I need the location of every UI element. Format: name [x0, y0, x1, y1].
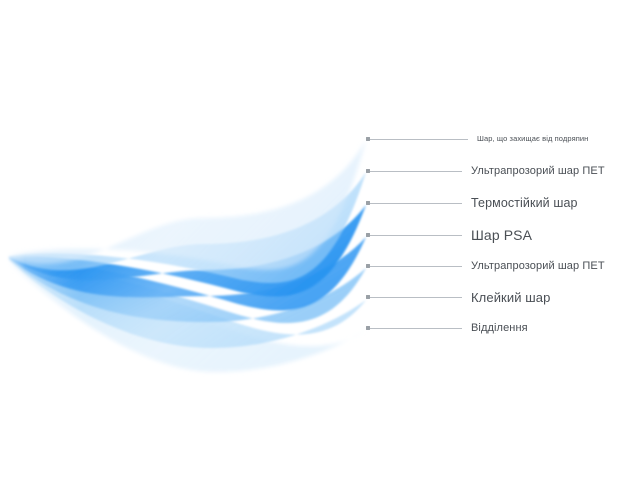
callout-label-layer-1: Шар, що захищає від подряпин: [477, 135, 588, 143]
callout-leader-line: [370, 235, 462, 236]
sheet-4-shar-psa: [8, 237, 366, 311]
callout-leader-line: [370, 171, 462, 172]
callout-leader-line: [370, 266, 462, 267]
callout-label-layer-4: Шар PSA: [471, 228, 532, 242]
sheet-7-viddilennya: [8, 262, 366, 372]
sheet-3-termostiykyy-shar: [8, 205, 366, 297]
sheet-5-ultraprozoryy-shar-pet: [8, 259, 366, 323]
callout-layer-1[interactable]: Шар, що захищає від подряпин: [366, 130, 588, 148]
callout-leader-line: [370, 139, 468, 140]
callout-leader-line: [370, 203, 462, 204]
callout-layer-6[interactable]: Клейкий шар: [366, 288, 550, 306]
callout-label-layer-3: Термостійкий шар: [471, 197, 578, 210]
callout-layer-4[interactable]: Шар PSA: [366, 226, 532, 244]
callout-label-layer-7: Відділення: [471, 323, 528, 334]
callout-layer-5[interactable]: Ультрапрозорий шар ПЕТ: [366, 257, 605, 275]
sheet-6-kleykyy-shar: [8, 260, 366, 348]
callout-layer-7[interactable]: Відділення: [366, 319, 528, 337]
callout-layer-3[interactable]: Термостійкий шар: [366, 194, 578, 212]
callout-label-layer-2: Ультрапрозорий шар ПЕТ: [471, 166, 605, 177]
sheet-group: [0, 120, 366, 400]
sheet-1-zakhysnyy-shar: [8, 140, 366, 270]
sheet-2-ultraprozoryy-shar-pet: [8, 172, 366, 283]
layer-structure-diagram: Шар, що захищає від подряпинУльтрапрозор…: [0, 0, 620, 485]
callout-label-layer-5: Ультрапрозорий шар ПЕТ: [471, 261, 605, 272]
callout-leader-line: [370, 297, 462, 298]
callout-layer-2[interactable]: Ультрапрозорий шар ПЕТ: [366, 162, 605, 180]
callout-label-layer-6: Клейкий шар: [471, 291, 550, 304]
callout-leader-line: [370, 328, 462, 329]
